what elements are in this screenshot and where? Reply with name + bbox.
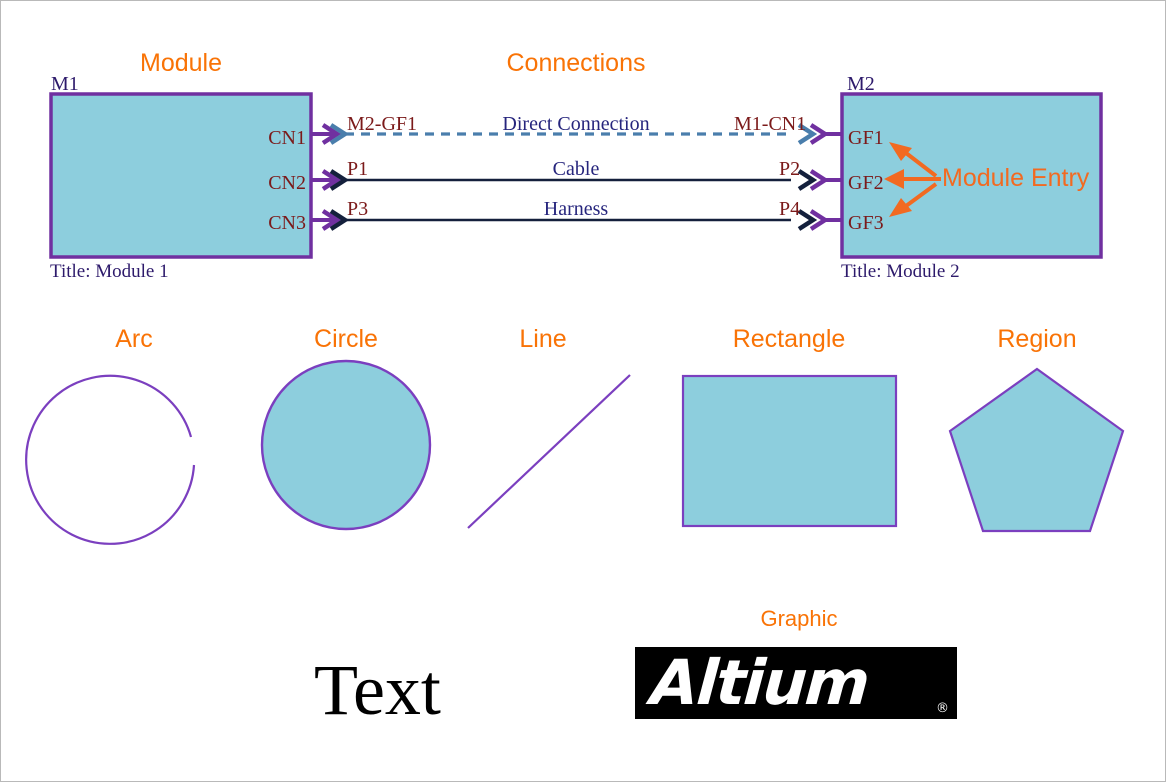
harness-right-port[interactable]: P4 (779, 199, 800, 219)
shape-circle[interactable] (262, 361, 430, 529)
graphic-altium-logo[interactable]: Altium ® (635, 647, 957, 719)
module-m2-port-gf1[interactable]: GF1 (848, 128, 884, 148)
shape-region[interactable] (950, 369, 1123, 531)
cable-right-port[interactable]: P2 (779, 159, 800, 179)
caption-graphic: Graphic (724, 608, 874, 630)
direct-connection-left-port[interactable]: M2-GF1 (347, 114, 417, 134)
shape-line[interactable] (468, 375, 630, 528)
caption-arc: Arc (74, 327, 194, 352)
caption-region: Region (977, 327, 1097, 352)
module-m1-title: Title: Module 1 (50, 262, 169, 281)
cable-right-chevron (799, 171, 813, 189)
module-m1-port-cn3[interactable]: CN3 (206, 213, 306, 233)
altium-wordmark: Altium (649, 648, 871, 718)
cable-label: Cable (441, 159, 711, 179)
text-sample: Text (314, 654, 441, 726)
schematic-canvas: Module Connections M1 M2 Title: Module 1… (0, 0, 1166, 782)
module-m2-port-gf2[interactable]: GF2 (848, 173, 884, 193)
caption-circle: Circle (286, 327, 406, 352)
module-m1-port-cn2[interactable]: CN2 (206, 173, 306, 193)
direct-connection-right-port[interactable]: M1-CN1 (734, 114, 806, 134)
registered-trademark-icon: ® (936, 702, 949, 715)
module-m1-port-cn1[interactable]: CN1 (206, 128, 306, 148)
caption-module: Module (111, 51, 251, 76)
harness-label: Harness (441, 199, 711, 219)
harness-left-port[interactable]: P3 (347, 199, 368, 219)
module-entry-label: Module Entry (942, 166, 1089, 191)
cable-left-port[interactable]: P1 (347, 159, 368, 179)
module-m2-title: Title: Module 2 (841, 262, 960, 281)
caption-line: Line (483, 327, 603, 352)
shape-rectangle[interactable] (683, 376, 896, 526)
module-m2-designator: M2 (847, 74, 875, 94)
caption-rectangle: Rectangle (714, 327, 864, 352)
module-m2-port-gf3[interactable]: GF3 (848, 213, 884, 233)
caption-connections: Connections (471, 51, 681, 76)
harness-right-chevron (799, 211, 813, 229)
shape-arc[interactable] (26, 376, 194, 544)
module-m1-designator: M1 (51, 74, 79, 94)
direct-connection-label: Direct Connection (441, 114, 711, 134)
